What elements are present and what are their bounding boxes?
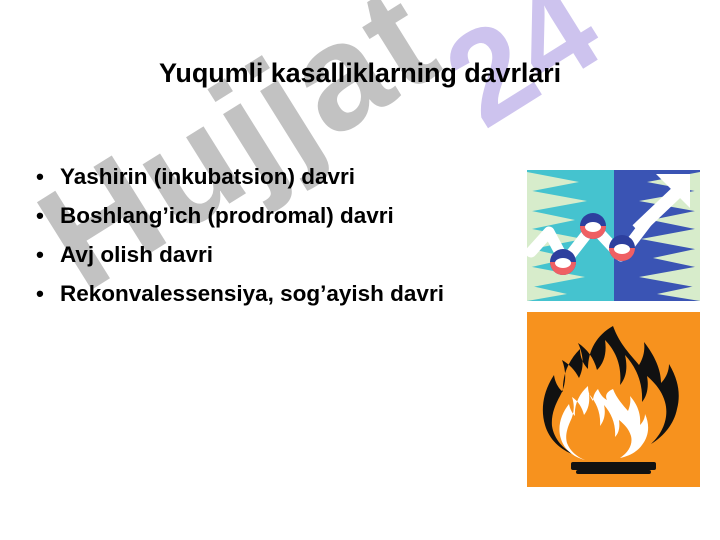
flame-base-shadow [576,470,651,474]
bullet-list: • Yashirin (inkubatsion) davri • Boshlan… [28,163,498,319]
chart-marker-2 [580,213,606,239]
bullet-marker-icon: • [36,163,44,191]
list-item-label: Yashirin (inkubatsion) davri [60,164,355,189]
chart-marker-1 [550,249,576,275]
list-item: • Yashirin (inkubatsion) davri [28,163,498,191]
list-item-label: Rekonvalessensiya, sog’ayish davri [60,281,444,306]
list-item: • Rekonvalessensiya, sog’ayish davri [28,280,498,308]
stat-chart-graphic [527,170,700,301]
list-item-label: Boshlang’ich (prodromal) davri [60,203,394,228]
list-item: • Avj olish davri [28,241,498,269]
list-item-label: Avj olish davri [60,242,213,267]
list-item: • Boshlang’ich (prodromal) davri [28,202,498,230]
flame-base-bar [571,462,656,470]
flammable-pictogram [527,312,700,487]
slide-canvas: Hujjat 24 [0,0,720,540]
bullet-marker-icon: • [36,241,44,269]
bullet-marker-icon: • [36,202,44,230]
chart-marker-3 [609,235,635,261]
page-title: Yuqumli kasalliklarning davrlari [60,58,660,89]
bullet-marker-icon: • [36,280,44,308]
